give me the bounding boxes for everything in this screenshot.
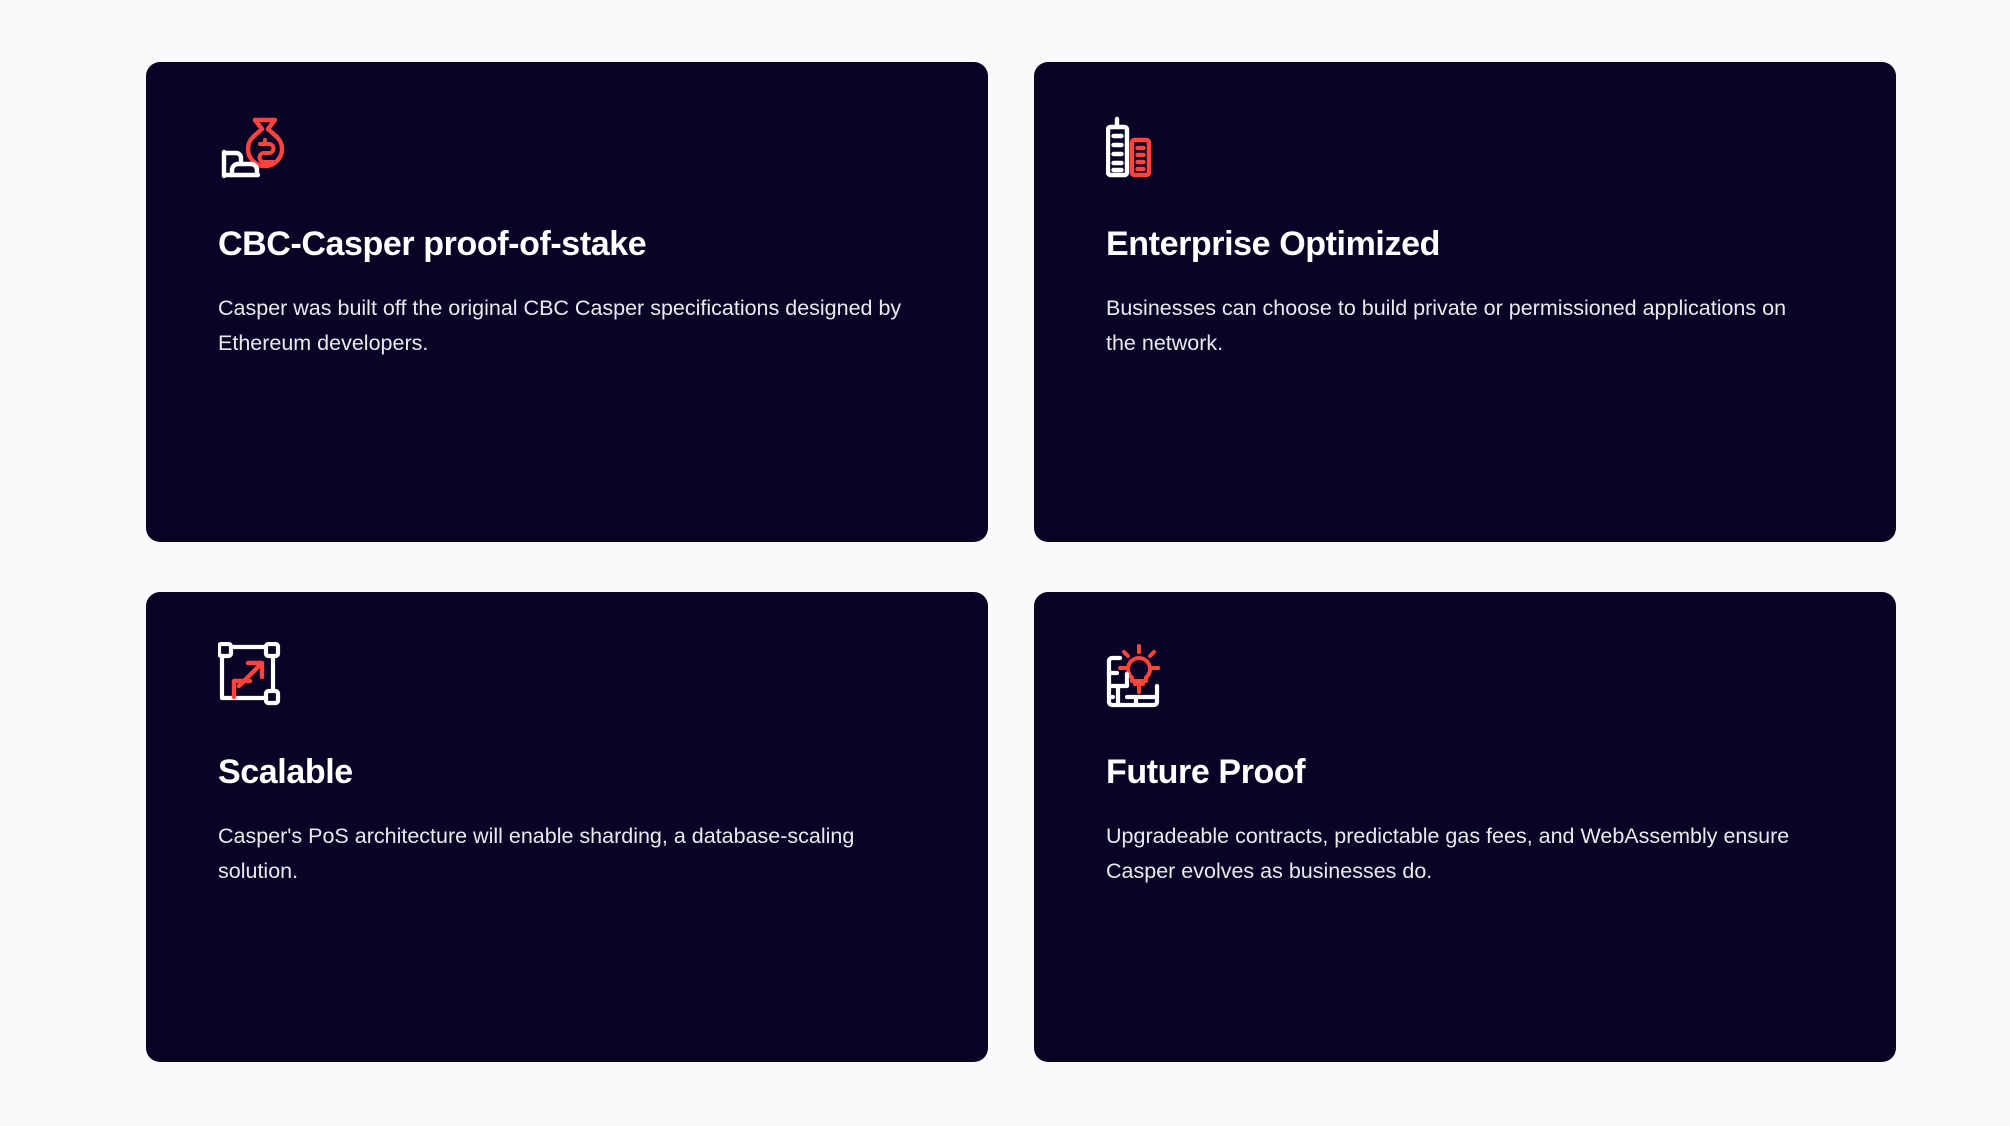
card-body: Casper was built off the original CBC Ca… xyxy=(218,291,908,361)
card-title: Scalable xyxy=(218,752,988,793)
feature-card-grid: CBC-Casper proof-of-stake Casper was bui… xyxy=(146,62,1896,1062)
card-title: Enterprise Optimized xyxy=(1106,224,1896,265)
card-title: CBC-Casper proof-of-stake xyxy=(218,224,988,265)
card-body: Businesses can choose to build private o… xyxy=(1106,291,1816,361)
feature-card-future-proof[interactable]: Future Proof Upgradeable contracts, pred… xyxy=(1034,592,1896,1062)
feature-card-enterprise-optimized[interactable]: Enterprise Optimized Businesses can choo… xyxy=(1034,62,1896,542)
money-bag-stake-icon xyxy=(218,112,298,184)
feature-card-scalable[interactable]: Scalable Casper's PoS architecture will … xyxy=(146,592,988,1062)
card-title: Future Proof xyxy=(1106,752,1896,793)
resize-scale-arrow-icon xyxy=(218,642,298,714)
feature-card-cbc-casper-proof-of-stake[interactable]: CBC-Casper proof-of-stake Casper was bui… xyxy=(146,62,988,542)
card-body: Upgradeable contracts, predictable gas f… xyxy=(1106,819,1816,889)
office-buildings-icon xyxy=(1106,112,1186,184)
card-body: Casper's PoS architecture will enable sh… xyxy=(218,819,908,889)
lightbulb-blueprint-icon xyxy=(1106,642,1186,714)
